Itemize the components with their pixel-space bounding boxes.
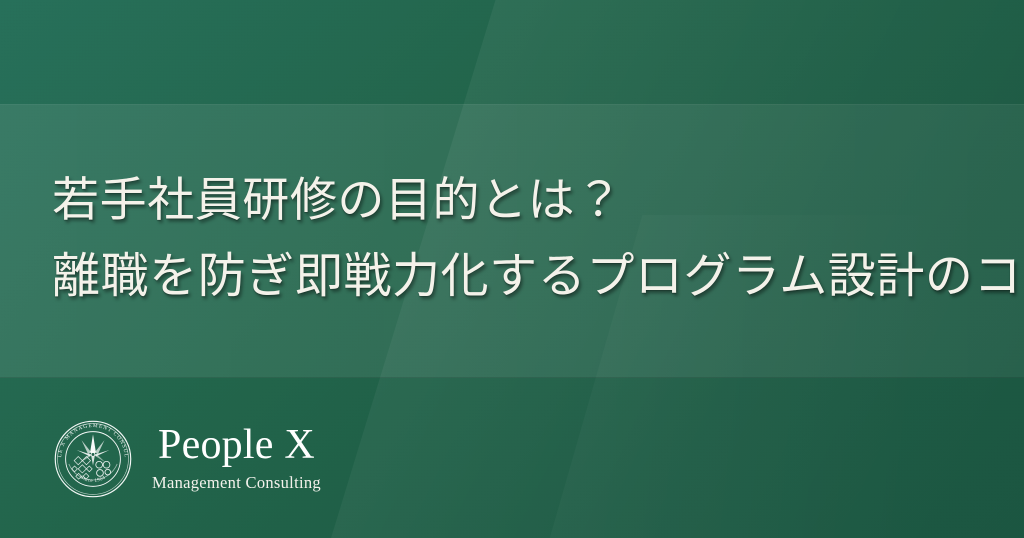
title-card: 若手社員研修の目的とは？ 離職を防ぎ即戦力化するプログラム設計のコツ PEOPL… [0,0,1024,538]
logo-name: People X [158,424,315,466]
logo-wordmark: People X Management Consulting [152,424,321,494]
logo-lockup: PEOPLE X MANAGEMENT CONSULTING Since 196… [52,418,321,500]
headline: 若手社員研修の目的とは？ 離職を防ぎ即戦力化するプログラム設計のコツ [52,104,972,376]
logo-tagline: Management Consulting [152,475,321,492]
headline-line-1: 若手社員研修の目的とは？ [52,177,972,227]
people-x-seal-icon: PEOPLE X MANAGEMENT CONSULTING Since 196… [52,418,134,500]
headline-line-2: 離職を防ぎ即戦力化するプログラム設計のコツ [52,252,972,303]
